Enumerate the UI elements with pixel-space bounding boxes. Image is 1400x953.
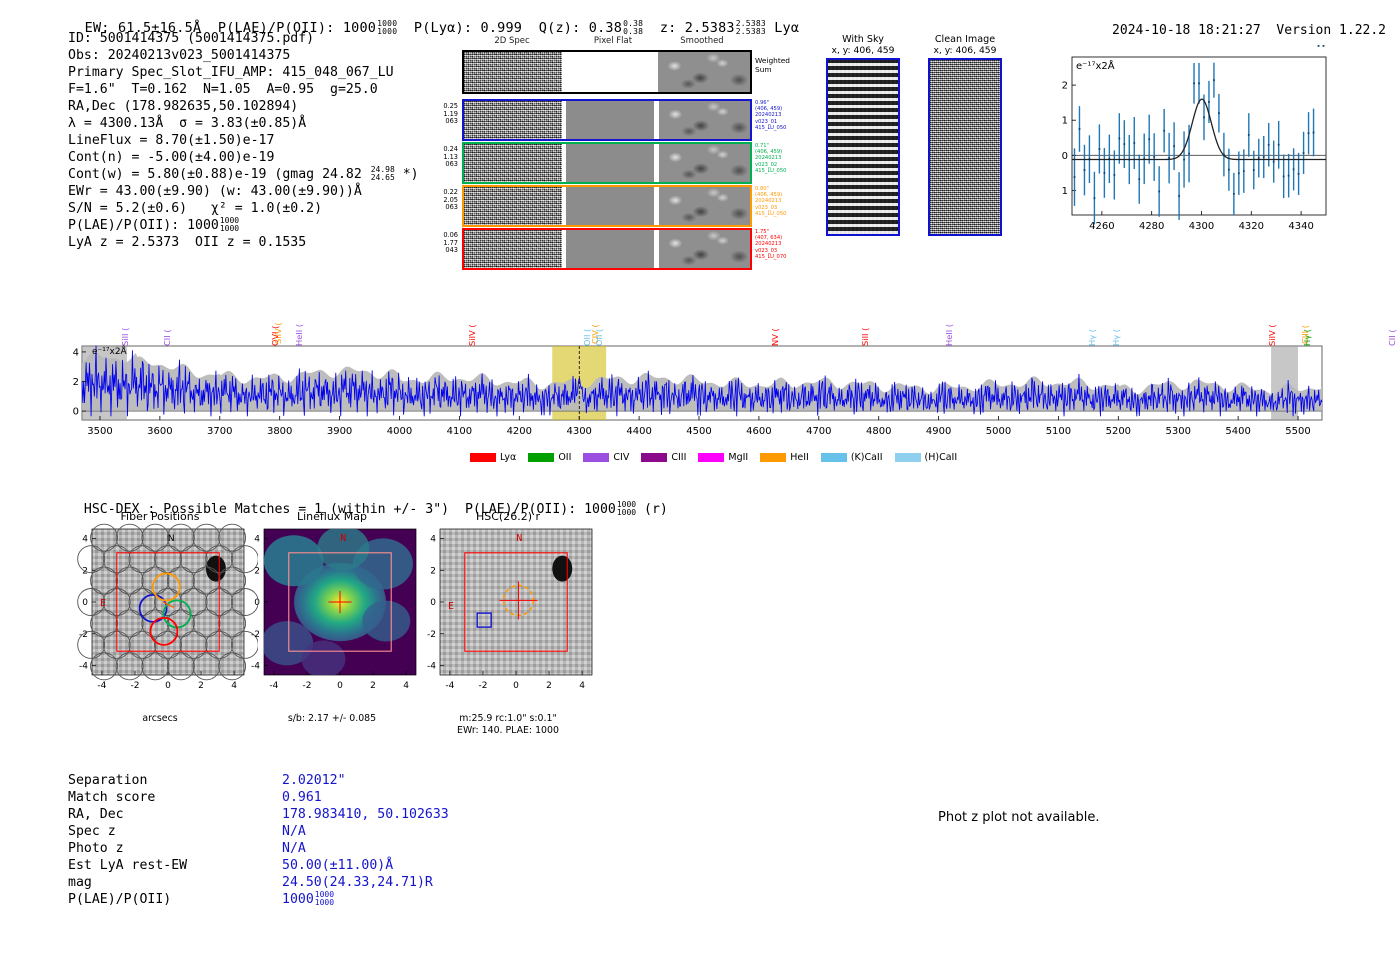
legend-swatch [821, 453, 847, 462]
match-table-key: Separation [68, 772, 282, 789]
clean-image-coords: x, y: 406, 459 [928, 45, 1002, 56]
info-cont-n: Cont(n) = -5.00(±4.00)e-19 [68, 149, 419, 166]
svg-text:0: 0 [1062, 151, 1068, 162]
svg-text:2: 2 [1062, 81, 1068, 92]
photz-unavailable-note: Phot z plot not available. [938, 810, 1100, 825]
2d-spectra-panel: 2D Spec Pixel Flat Smoothed Weighted Sum… [462, 36, 752, 270]
svg-text:4: 4 [430, 535, 436, 545]
legend-item: MgII [698, 452, 748, 463]
match-table-row: Spec zN/A [68, 823, 449, 840]
info-snr-chi2: S/N = 5.2(±0.6) χ² = 1.0(±0.2) [68, 200, 419, 217]
match-table-row: Photo zN/A [68, 840, 449, 857]
match-table-key: mag [68, 874, 282, 891]
svg-text:4280: 4280 [1139, 221, 1164, 232]
lineflux-map-svg: -4-4-2-2002244N [234, 523, 430, 711]
fiber-strip-right-labels: 1.75"(407, 634)20240213v023_03415_LU_070 [755, 229, 786, 260]
fiber-positions-panel: Fiber Positions -4-4-2-2002244NE arcsecs [62, 510, 258, 725]
svg-text:4800: 4800 [866, 426, 891, 437]
svg-text:5500: 5500 [1285, 426, 1310, 437]
match-table-row: Est LyA rest-EW50.00(±11.00)Å [68, 857, 449, 874]
spectrum-line-label: OII ( [594, 318, 604, 346]
svg-text:-4: -4 [445, 681, 454, 691]
svg-text:2: 2 [370, 681, 376, 691]
info-cont-w: Cont(w) = 5.80(±0.88)e-19 (gmag 24.82 24… [68, 166, 419, 183]
fiber-strip-left-labels: 0.061.77043 [426, 232, 458, 255]
svg-text:-2: -2 [79, 630, 88, 640]
svg-text:4300: 4300 [566, 426, 591, 437]
info-obs: Obs: 20240213v023_5001414375 [68, 47, 419, 64]
fiber-positions-xlabel: arcsecs [62, 713, 258, 725]
info-plae-bounds: 10001000 [220, 217, 239, 233]
spectrum-line-label: HeII ( [294, 318, 304, 346]
legend-swatch [583, 453, 609, 462]
svg-text:5000: 5000 [986, 426, 1011, 437]
svg-text:N: N [516, 533, 522, 544]
legend-swatch [760, 453, 786, 462]
gmag-bounds: 24.9824.65 [371, 166, 395, 182]
spectrum-line-label: SiIV ( [1267, 318, 1277, 346]
info-params: F=1.6" T=0.162 N=1.05 A=0.95 g=25.0 [68, 81, 419, 98]
svg-text:-4: -4 [427, 662, 436, 672]
svg-text:2: 2 [546, 681, 552, 691]
svg-text:N: N [340, 533, 346, 544]
svg-text:2: 2 [254, 566, 260, 576]
info-primary-spec: Primary Spec_Slot_IFU_AMP: 415_048_067_L… [68, 64, 419, 81]
svg-text:-4: -4 [251, 662, 260, 672]
svg-text:4000: 4000 [387, 426, 412, 437]
svg-text:-2: -2 [251, 630, 260, 640]
svg-text:2: 2 [430, 566, 436, 576]
svg-text:N: N [168, 534, 175, 544]
legend-label: CIII [671, 452, 686, 463]
match-table-key: Est LyA rest-EW [68, 857, 282, 874]
svg-text:4: 4 [73, 347, 79, 358]
svg-text:0: 0 [430, 598, 436, 608]
svg-text:4600: 4600 [746, 426, 771, 437]
svg-text:3600: 3600 [147, 426, 172, 437]
svg-text:E: E [100, 598, 106, 609]
info-redshifts: LyA z = 2.5373 OII z = 0.1535 [68, 234, 419, 251]
spectrum-line-label: CII ( [162, 318, 172, 346]
svg-text:0: 0 [73, 407, 79, 418]
legend-swatch [698, 453, 724, 462]
legend-label: (K)CaII [851, 452, 883, 463]
full-spectrum-plot: 0243500360037003800390040004100420043004… [60, 268, 1330, 452]
svg-text:0: 0 [337, 681, 343, 691]
legend-swatch [528, 453, 554, 462]
svg-text:-2: -2 [427, 630, 436, 640]
legend-label: CIV [613, 452, 629, 463]
weighted-sum-label: Weighted Sum [755, 56, 790, 74]
with-sky-cutout-panel: With Sky x, y: 406, 459 [826, 34, 900, 236]
svg-text:-2: -2 [302, 681, 311, 691]
fiber-strip-image [462, 142, 752, 184]
legend-swatch [641, 453, 667, 462]
match-table-key: P(LAE)/P(OII) [68, 891, 282, 908]
match-table-value: N/A [282, 824, 306, 839]
full-spectrum-svg: 0243500360037003800390040004100420043004… [60, 268, 1330, 448]
svg-text:3800: 3800 [267, 426, 292, 437]
match-table-row: Separation2.02012" [68, 772, 449, 789]
fiber-strip-left-labels: 0.222.05063 [426, 189, 458, 212]
fiber-strip-row: 0.241.130630.71"(406, 459)20240213v023_0… [462, 142, 752, 184]
hsc-r-svg: -4-4-2-2002244NE [410, 523, 606, 711]
match-table-value: 2.02012" [282, 773, 346, 788]
svg-text:4: 4 [254, 535, 260, 545]
info-lambda: λ = 4300.13Å σ = 3.83(±0.85)Å [68, 115, 419, 132]
svg-text:e⁻¹⁷x2Å: e⁻¹⁷x2Å [1076, 59, 1115, 72]
svg-text:1: 1 [1062, 186, 1068, 197]
match-table-value: 1000 [282, 892, 314, 907]
match-properties-table: Separation2.02012"Match score0.961RA, De… [68, 772, 449, 908]
spectrum-line-label: Hγ ( [1302, 318, 1312, 346]
fiber-strip-left-labels: 0.251.19063 [426, 103, 458, 126]
svg-text:-4: -4 [97, 681, 106, 691]
svg-text:0: 0 [513, 681, 519, 691]
info-id: ID: 5001414375 (5001414375.pdf) [68, 30, 419, 47]
hsc-r-caption: m:25.9 rc:1.0" s:0.1" [410, 713, 606, 725]
fiber-strip-right-labels: 0.80"(406, 459)20240213v023_03415_LU_050 [755, 186, 786, 217]
svg-text:3700: 3700 [207, 426, 232, 437]
fiber-strip-right-labels: 0.96"(406, 459)20240213v023_01415_LU_050 [755, 100, 786, 131]
svg-text:3900: 3900 [327, 426, 352, 437]
lineflux-map-panel: Lineflux Map -4-4-2-2002244N s/b: 2.17 +… [234, 510, 430, 725]
svg-text:4320: 4320 [1239, 221, 1264, 232]
svg-text:4900: 4900 [926, 426, 951, 437]
header-timestamp-version: 2024-10-18 18:21:27 Version 1.22.2 [1096, 8, 1386, 38]
version: Version 1.22.2 [1276, 23, 1386, 38]
header-z-type: Lyα [774, 20, 799, 36]
legend-swatch [895, 453, 921, 462]
weighted-sum-strip [462, 50, 752, 94]
svg-text:4: 4 [403, 681, 409, 691]
match-table-key: RA, Dec [68, 806, 282, 823]
svg-text:2: 2 [198, 681, 204, 691]
svg-text:3500: 3500 [87, 426, 112, 437]
spectrum-line-label: NV ( [770, 318, 780, 346]
clean-image [928, 58, 1002, 236]
lineflux-map-caption: s/b: 2.17 +/- 0.085 [234, 713, 430, 725]
svg-text:2: 2 [73, 377, 79, 388]
panel-title-smoothed: Smoothed [652, 36, 752, 46]
detection-info-block: ID: 5001414375 (5001414375.pdf) Obs: 202… [68, 30, 419, 251]
svg-text:0: 0 [254, 598, 260, 608]
svg-text:4: 4 [82, 535, 88, 545]
match-table-row: RA, Dec178.983410, 50.102633 [68, 806, 449, 823]
fiber-strip-row: 0.061.770431.75"(407, 634)20240213v023_0… [462, 228, 752, 270]
match-table-key: Photo z [68, 840, 282, 857]
legend-label: (H)CaII [925, 452, 958, 463]
svg-text:4260: 4260 [1089, 221, 1114, 232]
spectrum-legend: LyαOIICIVCIIIMgIIHeII(K)CaII(H)CaII [470, 452, 957, 463]
clean-image-cutout-panel: Clean Image x, y: 406, 459 [928, 34, 1002, 236]
spectrum-line-label: CII ( [1387, 318, 1397, 346]
fiber-positions-svg: -4-4-2-2002244NE [62, 523, 258, 711]
header-z: z: 2.5383 [660, 20, 735, 36]
info-radec: RA,Dec (178.982635,50.102894) [68, 98, 419, 115]
spectrum-line-label: SiII ( [860, 318, 870, 346]
svg-text:-2: -2 [130, 681, 139, 691]
emission-line-fit-plot: 101242604280430043204340e⁻¹⁷x2Å [1038, 45, 1334, 261]
match-table-value: N/A [282, 841, 306, 856]
spectrum-line-label: Hγ ( [1087, 318, 1097, 346]
spectrum-line-label: SiII ( [120, 318, 130, 346]
header-plya: P(Lyα): 0.999 [414, 20, 522, 36]
fiber-strip-row: 0.222.050630.80"(406, 459)20240213v023_0… [462, 185, 752, 227]
with-sky-coords: x, y: 406, 459 [826, 45, 900, 56]
svg-text:e⁻¹⁷x2Å: e⁻¹⁷x2Å [92, 345, 128, 357]
fiber-strip-right-labels: 0.71"(406, 459)20240213v023_02415_LU_050 [755, 143, 786, 174]
svg-text:-4: -4 [79, 662, 88, 672]
with-sky-image [826, 58, 900, 236]
legend-label: MgII [728, 452, 748, 463]
svg-text:5200: 5200 [1106, 426, 1131, 437]
legend-label: Lyα [500, 452, 516, 463]
match-table-value: 178.983410, 50.102633 [282, 807, 449, 822]
svg-text:4500: 4500 [686, 426, 711, 437]
hscdex-plae-bounds: 10001000 [617, 501, 636, 517]
legend-item: CIII [641, 452, 686, 463]
svg-text:4100: 4100 [447, 426, 472, 437]
match-table-plae-bounds: 10001000 [315, 891, 334, 907]
emission-line-fit-svg: 101242604280430043204340e⁻¹⁷x2Å [1038, 45, 1334, 257]
svg-text:E: E [448, 601, 454, 612]
match-table-row: mag24.50(24.33,24.71)R [68, 874, 449, 891]
match-table-row: P(LAE)/P(OII)100010001000 [68, 891, 449, 908]
spectrum-line-label: Hγ ( [1111, 318, 1121, 346]
spectrum-line-label: SiIV ( [467, 318, 477, 346]
panel-title-2dspec: 2D Spec [462, 36, 562, 46]
hsc-r-panel: HSC(26.2) r -4-4-2-2002244NE m:25.9 rc:1… [410, 510, 606, 736]
match-table-value: 24.50(24.33,24.71)R [282, 875, 433, 890]
svg-text:5100: 5100 [1046, 426, 1071, 437]
legend-item: Lyα [470, 452, 516, 463]
svg-text:4340: 4340 [1288, 221, 1313, 232]
spectrum-line-label: SiIV ( [273, 276, 283, 344]
fiber-strip-image [462, 185, 752, 227]
hsc-r-title: HSC(26.2) r [410, 510, 606, 523]
svg-text:0: 0 [82, 598, 88, 608]
fiber-strip-image [462, 228, 752, 270]
legend-swatch [470, 453, 496, 462]
svg-text:-4: -4 [269, 681, 278, 691]
header-z-bounds: 2.53832.5383 [736, 20, 766, 36]
legend-item: (H)CaII [895, 452, 958, 463]
header-qz-bounds: 0.380.38 [623, 20, 643, 36]
svg-text:5300: 5300 [1166, 426, 1191, 437]
legend-item: CIV [583, 452, 629, 463]
svg-text:4400: 4400 [626, 426, 651, 437]
match-table-value: 50.00(±11.00)Å [282, 858, 393, 873]
hsc-r-caption2: EWr: 140. PLAE: 1000 [410, 725, 606, 737]
legend-item: OII [528, 452, 571, 463]
match-table-value: 0.961 [282, 790, 322, 805]
timestamp: 2024-10-18 18:21:27 [1112, 23, 1261, 38]
match-table-key: Spec z [68, 823, 282, 840]
svg-text:4: 4 [579, 681, 585, 691]
info-lineflux: LineFlux = 8.70(±1.50)e-17 [68, 132, 419, 149]
clean-image-title: Clean Image [928, 34, 1002, 45]
header-qz: Q(z): 0.38 [539, 20, 622, 36]
svg-text:4700: 4700 [806, 426, 831, 437]
legend-item: HeII [760, 452, 809, 463]
svg-text:4200: 4200 [507, 426, 532, 437]
with-sky-title: With Sky [826, 34, 900, 45]
fiber-strip-image [462, 99, 752, 141]
svg-text:5400: 5400 [1225, 426, 1250, 437]
legend-label: HeII [790, 452, 809, 463]
svg-text:4300: 4300 [1189, 221, 1214, 232]
fiber-positions-title: Fiber Positions [62, 510, 258, 523]
svg-text:-2: -2 [478, 681, 487, 691]
fiber-strip-left-labels: 0.241.13063 [426, 146, 458, 169]
match-table-key: Match score [68, 789, 282, 806]
info-ewr: EWr = 43.00(±9.90) (w: 43.00(±9.90))Å [68, 183, 419, 200]
spectrum-line-label: HeII ( [944, 318, 954, 346]
lineflux-map-title: Lineflux Map [234, 510, 430, 523]
info-plae: P(LAE)/P(OII): 100010001000 [68, 217, 419, 234]
svg-text:0: 0 [165, 681, 171, 691]
svg-text:1: 1 [1062, 116, 1068, 127]
legend-label: OII [558, 452, 571, 463]
legend-item: (K)CaII [821, 452, 883, 463]
match-table-row: Match score0.961 [68, 789, 449, 806]
fiber-strip-row: 0.251.190630.96"(406, 459)20240213v023_0… [462, 99, 752, 141]
